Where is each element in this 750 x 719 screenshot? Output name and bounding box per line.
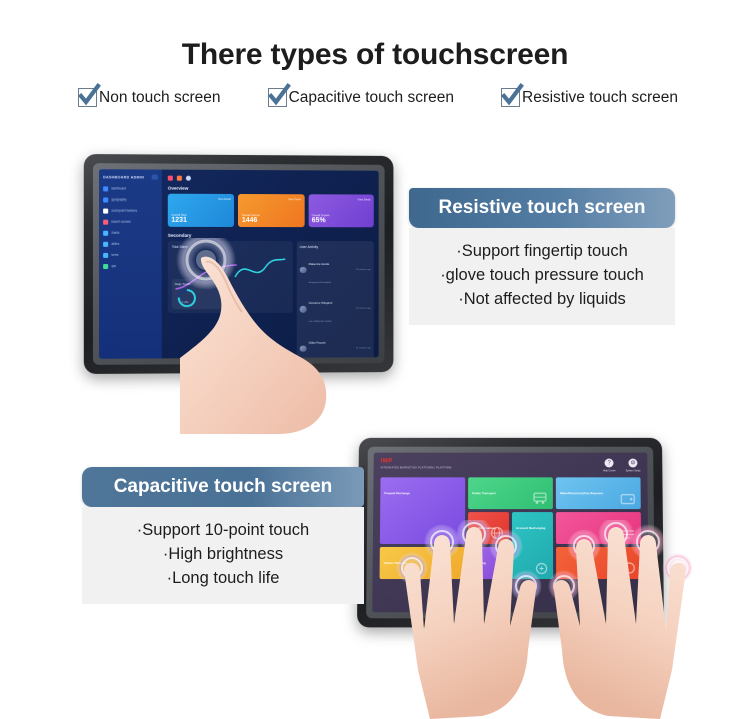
- page-title: There types of touchscreen: [0, 38, 750, 72]
- tile-label: Account Recharging: [516, 526, 545, 530]
- tile-utility-payment[interactable]: Water/Electricity/Gas Payment: [556, 477, 641, 509]
- user-activity-panel: User Activity Makenzie Hands designed an…: [297, 241, 374, 359]
- secondary-heading: Secondary: [168, 233, 374, 238]
- capacitive-bullet-3: ·Long touch life: [167, 569, 280, 588]
- tile-label: Shopping: [472, 560, 486, 564]
- activity-meta: designed and compiled: [309, 282, 331, 284]
- activity-name: Gillan Pacock: [309, 340, 326, 344]
- coin-icon: [535, 561, 548, 574]
- sidebar-item-touchpoint-buttons[interactable]: touchpoint buttons: [103, 209, 158, 214]
- tile-public-transport[interactable]: Public Transport: [468, 477, 553, 509]
- capacitive-info-panel: Capacitive touch screen ·Support 10-poin…: [82, 467, 364, 604]
- legend-label-non-touch: Non touch screen: [99, 89, 221, 107]
- help-center-button[interactable]: ? Help Center: [603, 459, 616, 472]
- overview-cards: View Detail Overall Total 1231 View Deta…: [168, 194, 374, 228]
- dashboard-sidebar: DASHBOARD ADMIN dashboard typography: [99, 169, 162, 359]
- tile-life-information[interactable]: Life Information: [468, 512, 509, 544]
- activity-time: 30 minutes ago: [356, 269, 371, 271]
- kiosk-ui: IMP INTEGRATED MARKETING PLATFORM | PLAT…: [372, 453, 649, 613]
- alert-icon[interactable]: [168, 176, 173, 181]
- checkbox-checked-icon: [78, 88, 97, 107]
- user-activity-title: User Activity: [300, 245, 371, 249]
- dashboard-ui: DASHBOARD ADMIN dashboard typography: [99, 169, 379, 359]
- sidebar-item-typography[interactable]: typography: [103, 197, 158, 202]
- dashboard-nav: dashboard typography touchpoint buttons: [103, 186, 158, 268]
- tile-label: Prepaid Recharge: [384, 491, 409, 495]
- tile-pink[interactable]: [556, 512, 641, 544]
- legend: Non touch screen Capacitive touch screen…: [78, 88, 678, 107]
- list-item[interactable]: Giovanne Wiegand new collaborator update…: [300, 291, 371, 327]
- sidebar-item-label: touchpoint buttons: [111, 209, 137, 213]
- capacitive-bullet-1: ·Support 10-point touch: [137, 521, 309, 540]
- sidebar-item-dashboard[interactable]: dashboard: [103, 186, 158, 191]
- overview-heading: Overview: [168, 186, 374, 192]
- sidebar-item-label: typography: [111, 198, 127, 202]
- resistive-bullet-2: ·glove touch pressure touch: [440, 266, 644, 285]
- table-icon: [103, 242, 108, 247]
- gauge-ring: [175, 286, 199, 308]
- sidebar-item-tables[interactable]: tables: [103, 242, 158, 247]
- kiosk-subtitle: INTEGRATED MARKETING PLATFORM | PLATFORM: [381, 466, 452, 469]
- secondary-row: Total Sales Daily Traffic: [168, 241, 374, 359]
- legend-item-capacitive: Capacitive touch screen: [268, 88, 454, 107]
- kiosk-header: IMP INTEGRATED MARKETING PLATFORM | PLAT…: [381, 459, 641, 472]
- help-center-label: Help Center: [603, 469, 616, 472]
- sidebar-item-search-screen[interactable]: search screen: [103, 220, 158, 225]
- tile-label: Online TV/Audio: [384, 560, 407, 564]
- card-link[interactable]: View Detail: [358, 198, 371, 201]
- sidebar-item-label: tables: [111, 242, 120, 246]
- tile-shopping[interactable]: Shopping: [468, 546, 509, 578]
- activity-name: Makenzie Hands: [309, 262, 330, 266]
- system-setup-label: System Setup: [626, 469, 641, 472]
- menu-icon[interactable]: [152, 175, 158, 180]
- checkbox-checked-icon: [268, 88, 287, 107]
- checkbox-checked-icon: [501, 88, 520, 107]
- gear-icon: ⚙: [628, 459, 637, 468]
- list-icon: [620, 528, 636, 540]
- sidebar-item-label: forms: [111, 253, 119, 257]
- card-overall-income[interactable]: View Detail Overall Income 1446: [238, 194, 304, 227]
- resistive-panel-heading: Resistive touch screen: [409, 188, 675, 228]
- sidebar-item-charts[interactable]: charts: [103, 231, 158, 236]
- avatar: [300, 306, 306, 312]
- kiosk-branding: IMP INTEGRATED MARKETING PLATFORM | PLAT…: [381, 459, 452, 469]
- activity-name: Giovanne Wiegand: [309, 301, 333, 305]
- monitor-bezel: DASHBOARD ADMIN dashboard typography: [84, 154, 394, 374]
- gear-icon[interactable]: [186, 176, 191, 181]
- question-mark-icon: ?: [605, 459, 614, 468]
- sidebar-item-label: ups: [111, 264, 116, 268]
- dashboard-icon: [103, 186, 108, 191]
- list-item[interactable]: Makenzie Hands designed and compiled 30 …: [300, 252, 371, 288]
- capacitive-monitor: IMP INTEGRATED MARKETING PLATFORM | PLAT…: [358, 437, 663, 627]
- kiosk-logo: IMP: [381, 459, 452, 465]
- sidebar-item-forms[interactable]: forms: [103, 253, 158, 258]
- gauge-value: 1.2%: [182, 300, 221, 304]
- activity-time: 41 minutes ago: [356, 347, 371, 349]
- sidebar-item-label: dashboard: [111, 187, 126, 191]
- buttons-icon: [103, 209, 108, 214]
- resistive-monitor: DASHBOARD ADMIN dashboard typography: [85, 155, 395, 373]
- avatar: [300, 345, 306, 352]
- system-setup-button[interactable]: ⚙ System Setup: [626, 459, 641, 472]
- activity-time: 34 minutes ago: [356, 308, 371, 310]
- dashboard-main: Overview View Detail Overall Total 1231 …: [162, 170, 379, 359]
- capacitive-panel-body: ·Support 10-point touch ·High brightness…: [82, 507, 364, 604]
- kiosk-tools: ? Help Center ⚙ System Setup: [603, 459, 641, 472]
- capacitive-panel-heading: Capacitive touch screen: [82, 467, 364, 507]
- legend-label-capacitive: Capacitive touch screen: [289, 89, 454, 107]
- typography-icon: [103, 197, 108, 202]
- ups-icon: [103, 264, 108, 269]
- globe-icon: [490, 526, 504, 540]
- resistive-bullet-1: ·Support fingertip touch: [456, 242, 628, 261]
- monitor-screen: DASHBOARD ADMIN dashboard typography: [99, 169, 379, 359]
- card-link[interactable]: View Detail: [218, 197, 231, 200]
- legend-item-non-touch: Non touch screen: [78, 88, 221, 107]
- search-icon: [103, 220, 108, 225]
- avatar: [300, 267, 306, 273]
- card-value: 1231: [171, 217, 187, 224]
- resistive-panel-body: ·Support fingertip touch ·glove touch pr…: [409, 228, 675, 325]
- dashboard-brand: DASHBOARD ADMIN: [103, 174, 158, 179]
- capacitive-bullet-2: ·High brightness: [163, 545, 283, 564]
- tile-account-recharging[interactable]: Account Recharging: [512, 512, 553, 579]
- sales-chart: Total Sales Daily Traffic: [168, 241, 293, 313]
- tile-label: Water/Electricity/Gas Payment: [560, 491, 603, 495]
- bus-icon: [532, 491, 548, 505]
- dashboard-brand-label: DASHBOARD ADMIN: [103, 175, 144, 179]
- sidebar-item-label: search screen: [111, 220, 131, 224]
- dashboard-topbar: [168, 176, 374, 182]
- qr-icon: [622, 560, 636, 574]
- resistive-bullet-3: ·Not affected by liquids: [458, 290, 626, 309]
- tile-label: Public Transport: [472, 491, 496, 495]
- card-link[interactable]: View Detail: [288, 198, 301, 201]
- activity-meta: new collaborator update: [309, 321, 332, 323]
- tile-prepaid-recharge[interactable]: Prepaid Recharge: [380, 477, 465, 544]
- list-item[interactable]: Gillan Pacock new collaborator update 41…: [300, 330, 371, 358]
- tile-orange[interactable]: [556, 546, 641, 578]
- card-value: 1446: [242, 217, 258, 224]
- legend-label-resistive: Resistive touch screen: [522, 89, 678, 107]
- monitor-screen: IMP INTEGRATED MARKETING PLATFORM | PLAT…: [372, 453, 649, 613]
- sidebar-item-label: charts: [111, 231, 120, 235]
- monitor-bezel: IMP INTEGRATED MARKETING PLATFORM | PLAT…: [357, 438, 664, 628]
- sidebar-item-ups[interactable]: ups: [103, 264, 158, 269]
- kiosk-tile-grid: Prepaid Recharge Public Transport Water: [380, 477, 642, 579]
- form-icon: [103, 253, 108, 258]
- wallet-icon: [620, 492, 636, 505]
- chart-icon: [103, 231, 108, 236]
- infographic-page: There types of touchscreen Non touch scr…: [0, 0, 750, 719]
- card-value: 65%: [312, 217, 326, 224]
- mail-icon[interactable]: [177, 176, 182, 181]
- resistive-info-panel: Resistive touch screen ·Support fingerti…: [409, 188, 675, 325]
- card-overall-total[interactable]: View Detail Overall Total 1231: [168, 194, 235, 227]
- card-overall-growth[interactable]: View Detail Overall Growth 65%: [308, 194, 373, 227]
- tile-online-tv-audio[interactable]: Online TV/Audio: [380, 546, 465, 578]
- legend-item-resistive: Resistive touch screen: [501, 88, 678, 107]
- daily-traffic-gauge: Daily Traffic 1.2%: [172, 279, 224, 309]
